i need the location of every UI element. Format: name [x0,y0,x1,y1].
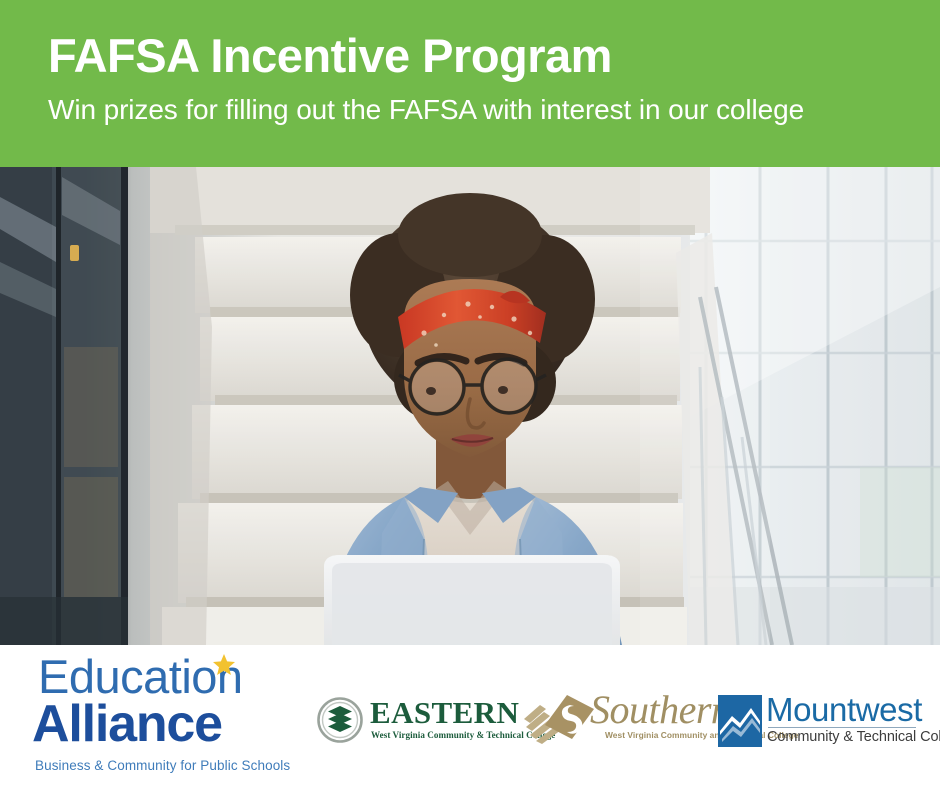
logo-mountwest[interactable]: Mountwest Community & Technical College [718,695,918,747]
partner-logo-bar: Education Alliance Business & Community … [0,645,940,788]
logo-education-alliance[interactable]: Education Alliance Business & Community … [32,653,294,781]
star-icon [212,653,236,677]
education-alliance-tagline: Business & Community for Public Schools [35,758,290,773]
southern-name: Southern [590,690,730,730]
mountwest-divider [768,727,916,728]
swoosh-diamond-s-icon [524,693,598,745]
mountwest-subtitle: Community & Technical College [767,729,940,745]
header-band: FAFSA Incentive Program Win prizes for f… [0,0,940,167]
eastern-name: EASTERN [370,697,519,728]
page-title: FAFSA Incentive Program [48,32,612,81]
hero-photo-illustration [0,167,940,645]
logo-eastern[interactable]: EASTERN West Virginia Community & Techni… [316,695,512,747]
mountwest-name: Mountwest [766,693,922,726]
page-subtitle: Win prizes for filling out the FAFSA wit… [48,93,804,127]
mountain-square-icon [718,695,762,747]
hero-photo [0,167,940,645]
stacked-diamonds-circle-icon [316,696,364,744]
education-alliance-line2: Alliance [32,698,222,750]
fafsa-incentive-poster: FAFSA Incentive Program Win prizes for f… [0,0,940,788]
logo-southern[interactable]: Southern West Virginia Community and Tec… [524,693,714,749]
